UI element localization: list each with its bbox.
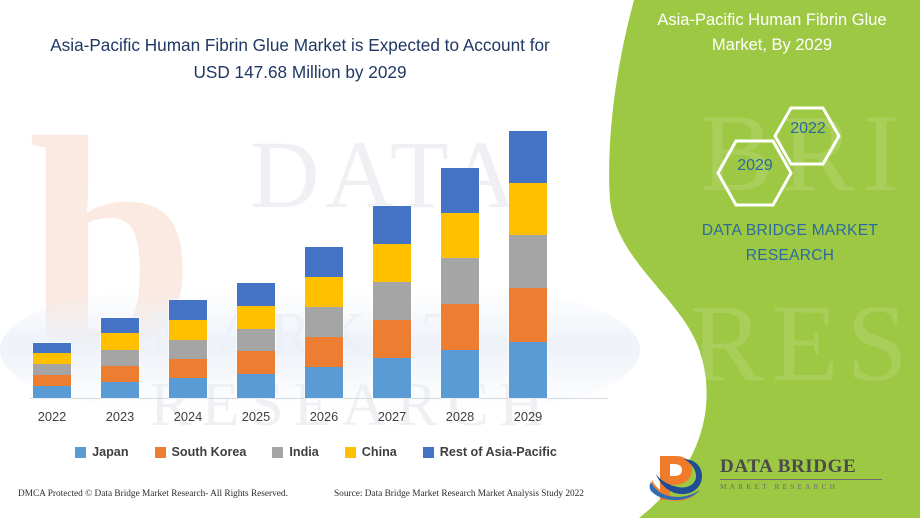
- bar-2024: [169, 300, 207, 398]
- bar-segment-india-2027: [373, 282, 411, 320]
- logo-name: DATA BRIDGE: [720, 456, 896, 478]
- legend-item-china[interactable]: China: [345, 445, 397, 459]
- bar-segment-rest-of-asia-pacific-2024: [169, 300, 207, 320]
- bar-segment-rest-of-asia-pacific-2023: [101, 318, 139, 333]
- bar-segment-india-2029: [509, 235, 547, 288]
- bar-segment-japan-2022: [33, 386, 71, 398]
- bar-segment-rest-of-asia-pacific-2027: [373, 206, 411, 244]
- x-axis-label-2028: 2028: [422, 409, 498, 424]
- chart-baseline: [30, 398, 608, 399]
- footer-copyright: DMCA Protected © Data Bridge Market Rese…: [18, 489, 288, 499]
- bar-2025: [237, 283, 275, 398]
- bar-segment-japan-2025: [237, 374, 275, 398]
- legend-label-rest-of-asia-pacific: Rest of Asia-Pacific: [440, 445, 557, 459]
- bar-2029: [509, 131, 547, 398]
- bar-segment-south-korea-2027: [373, 320, 411, 358]
- legend-swatch-india: [272, 447, 283, 458]
- bar-segment-rest-of-asia-pacific-2026: [305, 247, 343, 277]
- bar-segment-india-2023: [101, 350, 139, 366]
- legend-item-south-korea[interactable]: South Korea: [155, 445, 247, 459]
- logo-subtitle: MARKET RESEARCH: [720, 482, 896, 492]
- hexagon-2029-label: 2029: [718, 157, 792, 175]
- legend-item-india[interactable]: India: [272, 445, 318, 459]
- bar-2026: [305, 247, 343, 398]
- x-axis-label-2026: 2026: [286, 409, 362, 424]
- bar-segment-china-2023: [101, 333, 139, 350]
- legend-label-india: India: [289, 445, 318, 459]
- bar-segment-south-korea-2024: [169, 359, 207, 378]
- bar-segment-south-korea-2028: [441, 304, 479, 350]
- legend-swatch-rest-of-asia-pacific: [423, 447, 434, 458]
- x-axis-label-2027: 2027: [354, 409, 430, 424]
- legend-label-china: China: [362, 445, 397, 459]
- data-bridge-logo: DATA BRIDGE MARKET RESEARCH: [646, 452, 896, 506]
- bar-segment-japan-2027: [373, 358, 411, 398]
- page-title: Asia-Pacific Human Fibrin Glue Market is…: [40, 32, 560, 86]
- bar-segment-south-korea-2029: [509, 288, 547, 342]
- legend-item-rest-of-asia-pacific[interactable]: Rest of Asia-Pacific: [423, 445, 557, 459]
- bar-segment-japan-2023: [101, 382, 139, 398]
- legend-swatch-south-korea: [155, 447, 166, 458]
- bar-segment-rest-of-asia-pacific-2028: [441, 168, 479, 213]
- bar-segment-rest-of-asia-pacific-2025: [237, 283, 275, 306]
- logo-divider: [720, 479, 882, 480]
- svg-text:RES: RES: [690, 282, 916, 404]
- green-panel-title: Asia-Pacific Human Fibrin Glue Market, B…: [636, 8, 908, 58]
- bar-segment-china-2022: [33, 353, 71, 364]
- bar-2028: [441, 168, 479, 398]
- bar-segment-china-2025: [237, 306, 275, 329]
- bar-2022: [33, 343, 71, 398]
- legend-item-japan[interactable]: Japan: [75, 445, 128, 459]
- bar-2027: [373, 206, 411, 398]
- bar-segment-south-korea-2023: [101, 366, 139, 382]
- footer: DMCA Protected © Data Bridge Market Rese…: [0, 482, 620, 518]
- bar-segment-japan-2028: [441, 350, 479, 398]
- x-axis-label-2029: 2029: [490, 409, 566, 424]
- legend-label-japan: Japan: [92, 445, 128, 459]
- bar-segment-rest-of-asia-pacific-2022: [33, 343, 71, 353]
- bar-segment-japan-2029: [509, 342, 547, 398]
- bar-segment-india-2022: [33, 364, 71, 375]
- bar-segment-india-2028: [441, 258, 479, 304]
- data-bridge-logo-text: DATA BRIDGE MARKET RESEARCH: [720, 456, 896, 492]
- green-panel-brand: DATA BRIDGE MARKET RESEARCH: [672, 218, 908, 268]
- bar-segment-rest-of-asia-pacific-2029: [509, 131, 547, 183]
- x-axis-label-2024: 2024: [150, 409, 226, 424]
- hexagon-2022-label: 2022: [775, 120, 841, 138]
- bar-segment-india-2024: [169, 340, 207, 359]
- bar-segment-south-korea-2022: [33, 375, 71, 386]
- bar-segment-china-2029: [509, 183, 547, 235]
- data-bridge-logo-mark: [646, 452, 716, 504]
- bar-segment-china-2024: [169, 320, 207, 340]
- infographic-canvas: b DATA MARKET RESEARCH BRI RES Asia-Paci…: [0, 0, 920, 518]
- x-axis-label-2025: 2025: [218, 409, 294, 424]
- bar-segment-south-korea-2026: [305, 337, 343, 367]
- chart-legend: JapanSouth KoreaIndiaChinaRest of Asia-P…: [36, 438, 596, 466]
- x-axis-label-2023: 2023: [82, 409, 158, 424]
- legend-label-south-korea: South Korea: [172, 445, 247, 459]
- legend-swatch-china: [345, 447, 356, 458]
- bar-segment-south-korea-2025: [237, 351, 275, 374]
- x-axis-label-2022: 2022: [14, 409, 90, 424]
- bar-segment-japan-2026: [305, 367, 343, 398]
- bar-segment-india-2025: [237, 329, 275, 351]
- bar-segment-china-2026: [305, 277, 343, 307]
- bar-segment-china-2027: [373, 244, 411, 282]
- bar-segment-china-2028: [441, 213, 479, 258]
- legend-swatch-japan: [75, 447, 86, 458]
- bar-2023: [101, 318, 139, 398]
- footer-source: Source: Data Bridge Market Research Mark…: [334, 489, 584, 499]
- bar-segment-japan-2024: [169, 378, 207, 398]
- bar-segment-india-2026: [305, 307, 343, 337]
